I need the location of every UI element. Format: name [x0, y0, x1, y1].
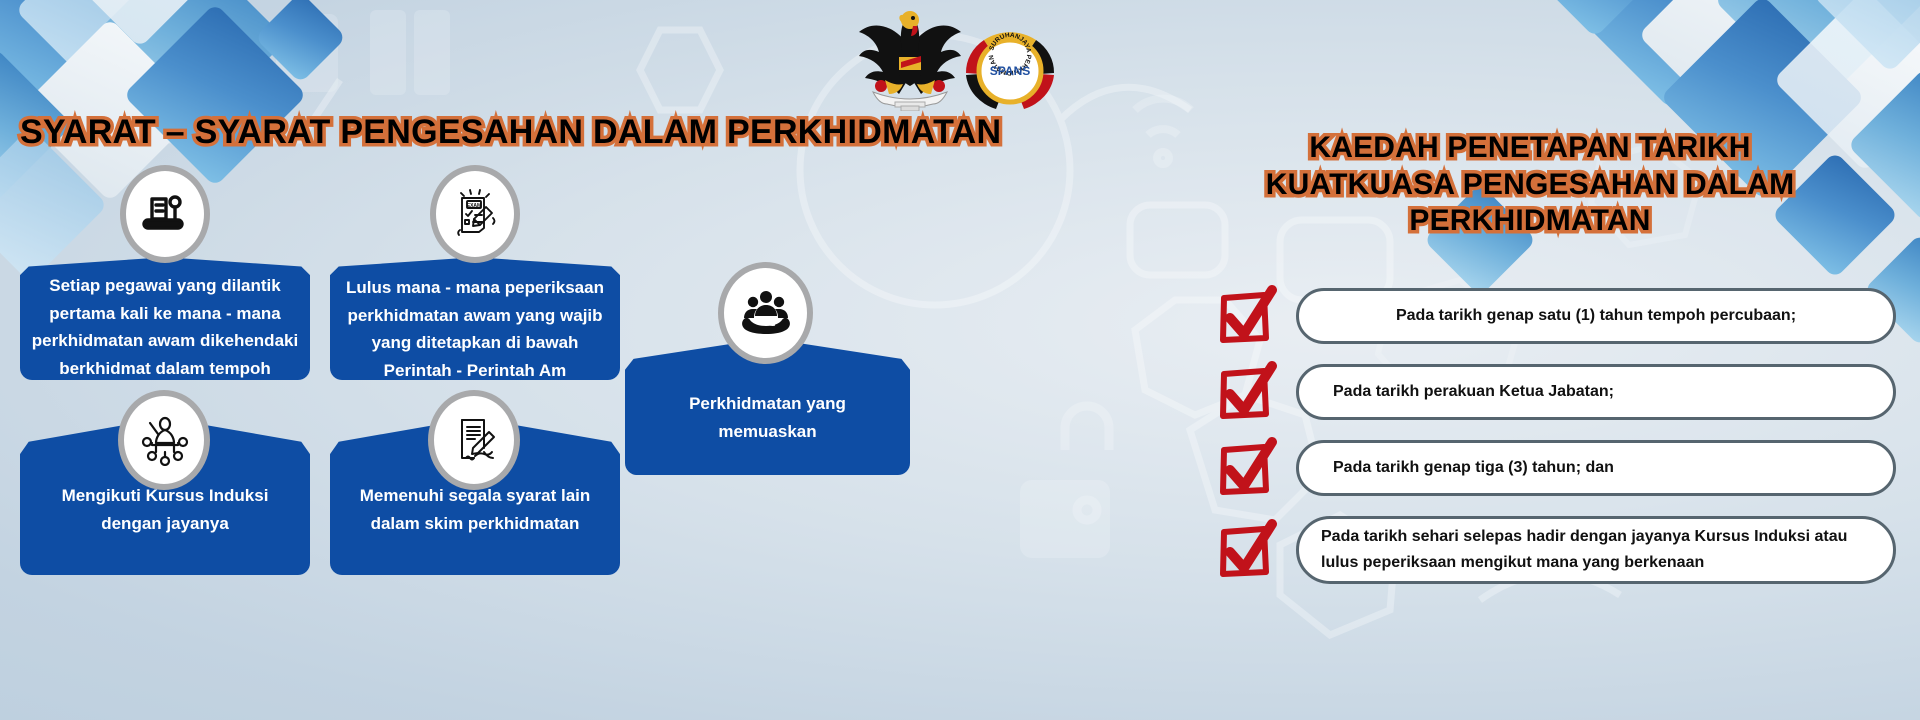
checklist-item-2: Pada tarikh perakuan Ketua Jabatan; [1218, 364, 1896, 420]
checklist-text-2: Pada tarikh perakuan Ketua Jabatan; [1333, 383, 1859, 401]
spans-logo: SURUHANJAYA PERKHIDMATAN AWAM NEGERI SAR… [957, 32, 1063, 115]
checklist-text-4: Pada tarikh sehari selepas hadir dengan … [1321, 524, 1871, 575]
sarawak-state-crest [855, 6, 965, 116]
checklist-text-1: Pada tarikh genap satu (1) tahun tempoh … [1319, 307, 1873, 325]
condition-card-4-text: Memenuhi segala syarat lain dalam skim p… [340, 482, 610, 537]
checkbox-tick-icon[interactable] [1218, 288, 1274, 344]
checklist-pill-2: Pada tarikh perakuan Ketua Jabatan; [1296, 364, 1896, 420]
checkbox-tick-icon[interactable] [1218, 522, 1274, 578]
checklist-pill-1: Pada tarikh genap satu (1) tahun tempoh … [1296, 288, 1896, 344]
left-panel-title: SYARAT – SYARAT PENGESAHAN DALAM PERKHID… [20, 113, 880, 152]
right-panel-title-line-2: KUATKUASA PENGESAHAN DALAM [1180, 167, 1880, 204]
condition-card-2-text: Lulus mana - mana peperiksaan perkhidmat… [340, 274, 610, 384]
checkbox-tick-icon[interactable] [1218, 364, 1274, 420]
right-panel-title-line-3: PERKHIDMATAN [1180, 203, 1880, 240]
checklist-pill-4: Pada tarikh sehari selepas hadir dengan … [1296, 516, 1896, 584]
condition-card-5-text: Perkhidmatan yang memuaskan [639, 390, 896, 445]
svg-text:SPANS: SPANS [990, 64, 1030, 78]
checklist-item-4: Pada tarikh sehari selepas hadir dengan … [1218, 516, 1896, 584]
signing-document-icon [428, 390, 520, 490]
infographic-canvas: SURUHANJAYA PERKHIDMATAN AWAM NEGERI SAR… [0, 0, 1920, 720]
hands-holding-people-icon [718, 262, 813, 364]
svg-text:EXAM: EXAM [467, 203, 481, 209]
checklist-item-3: Pada tarikh genap tiga (3) tahun; dan [1218, 440, 1896, 496]
checkbox-tick-icon[interactable] [1218, 440, 1274, 496]
checklist-pill-3: Pada tarikh genap tiga (3) tahun; dan [1296, 440, 1896, 496]
condition-card-1: Setiap pegawai yang dilantik pertama kal… [20, 258, 310, 380]
right-panel-title: KAEDAH PENETAPAN TARIKH KUATKUASA PENGES… [1180, 130, 1880, 240]
training-presenter-icon [118, 390, 210, 490]
condition-card-3-text: Mengikuti Kursus Induksi dengan jayanya [30, 482, 300, 537]
certificate-badge-icon [120, 165, 210, 263]
condition-card-2: Lulus mana - mana peperiksaan perkhidmat… [330, 258, 620, 380]
logo-group: SURUHANJAYA PERKHIDMATAN AWAM NEGERI SAR… [855, 6, 1075, 111]
checklist-item-1: Pada tarikh genap satu (1) tahun tempoh … [1218, 288, 1896, 344]
exam-paper-pencil-icon: EXAM [430, 165, 520, 263]
right-panel-title-line-1: KAEDAH PENETAPAN TARIKH [1180, 130, 1880, 167]
checklist-text-3: Pada tarikh genap tiga (3) tahun; dan [1333, 459, 1859, 477]
